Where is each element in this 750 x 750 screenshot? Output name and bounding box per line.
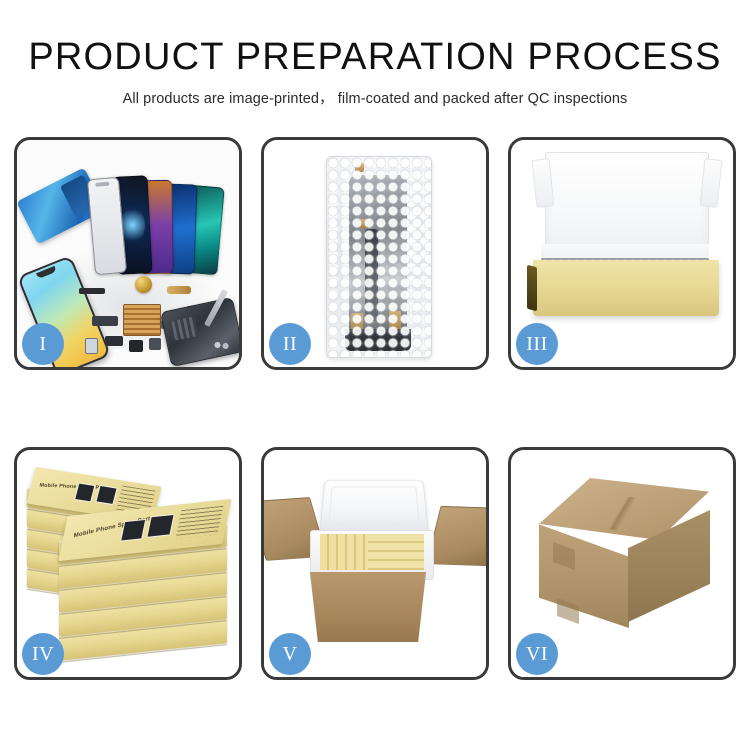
box-stack-group: Mobile Phone Spare Parts Mobile Phone Sp…	[25, 472, 237, 662]
flex-cable-3	[92, 316, 118, 326]
step-badge-4: IV	[22, 633, 64, 675]
phone-fan-group	[87, 164, 239, 274]
master-carton-body	[302, 572, 434, 642]
bubble-texture	[327, 157, 431, 357]
box-print-window-4	[147, 514, 175, 538]
flex-cable-5	[129, 340, 143, 352]
flex-cable-4	[105, 336, 123, 346]
step-badge-6: VI	[516, 633, 558, 675]
process-step-4[interactable]: Mobile Phone Spare Parts Mobile Phone Sp…	[14, 447, 242, 680]
page-subtitle: All products are image-printed， film-coa…	[0, 87, 750, 108]
box-print-window-2	[95, 484, 118, 505]
copper-mesh-part	[123, 304, 161, 336]
flex-cable-1	[167, 286, 191, 294]
inner-boxes-row-2	[368, 534, 424, 570]
process-step-grid: Mobile phone screens, LCD assemblies and…	[14, 137, 736, 680]
coil-part-icon	[135, 276, 152, 293]
box-print-window-3	[120, 518, 146, 541]
bubble-wrap-bag	[326, 156, 432, 358]
spare-part-bar	[79, 288, 105, 294]
flex-cable-7	[85, 338, 98, 354]
process-step-5[interactable]: Boxes loaded into a styrofoam cooler ins…	[261, 447, 489, 680]
process-step-6[interactable]: Master carton sealed and ready for shipm…	[508, 447, 736, 680]
page-header: PRODUCT PREPARATION PROCESS All products…	[0, 0, 750, 108]
styrofoam-lid	[319, 480, 429, 533]
step-badge-3: III	[516, 323, 558, 365]
box-print-window-1	[74, 483, 96, 503]
box-print-text-lines-front	[175, 506, 224, 539]
screws-group	[213, 340, 231, 350]
flex-cable-6	[149, 338, 161, 350]
yellow-inner-box	[533, 260, 719, 316]
process-step-3[interactable]: Wrapped parts placed in a yellow inner c…	[508, 137, 736, 370]
step-badge-1: I	[22, 323, 64, 365]
step-badge-2: II	[269, 323, 311, 365]
process-step-1[interactable]: Mobile phone screens, LCD assemblies and…	[14, 137, 242, 370]
page-title: PRODUCT PREPARATION PROCESS	[0, 38, 750, 78]
step-badge-5: V	[269, 633, 311, 675]
process-step-2[interactable]: Each part individually sealed in bubble …	[261, 137, 489, 370]
